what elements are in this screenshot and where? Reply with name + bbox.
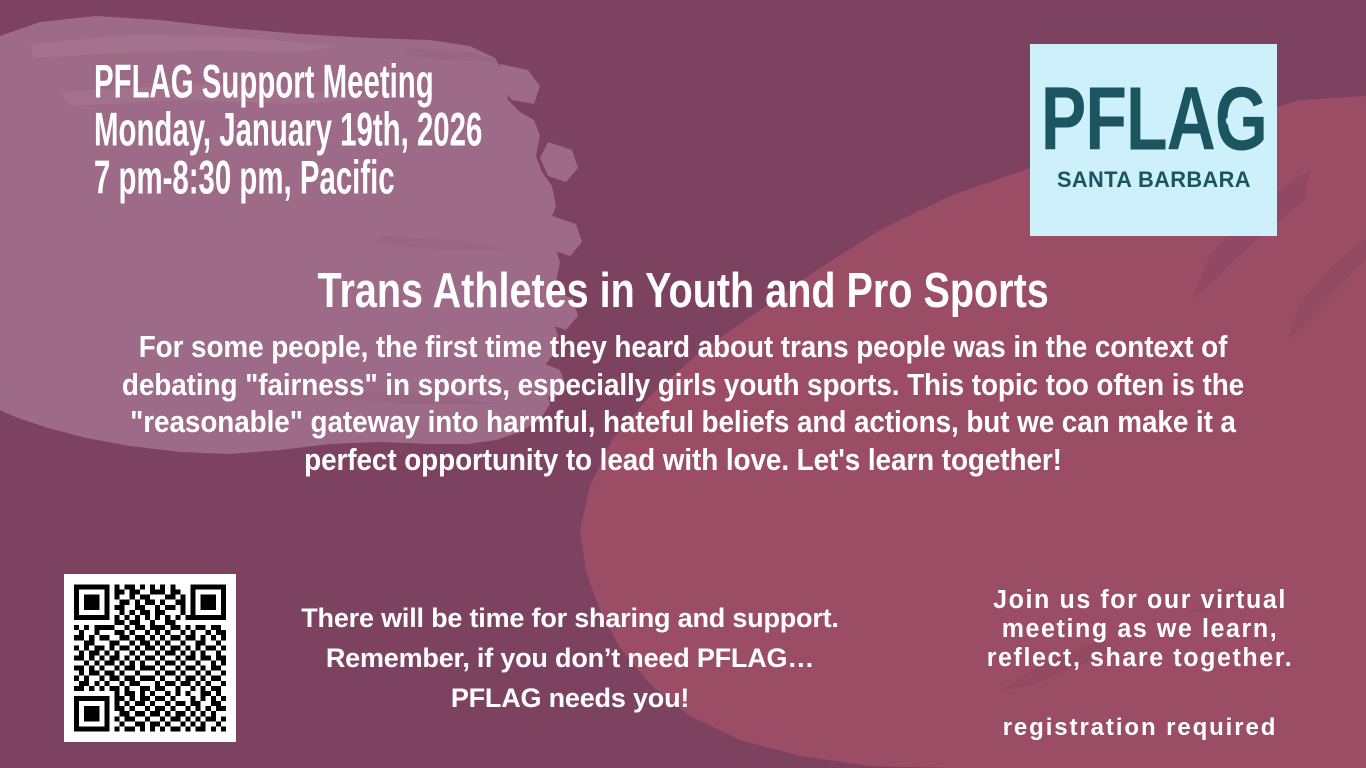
invitation-line-1: Join us for our virtual bbox=[930, 586, 1350, 616]
invitation-block: Join us for our virtual meeting as we le… bbox=[930, 586, 1350, 742]
support-note-line-1: There will be time for sharing and suppo… bbox=[255, 598, 885, 638]
support-note-line-3: PFLAG needs you! bbox=[255, 678, 885, 718]
support-note-line-2: Remember, if you don’t need PFLAG… bbox=[255, 638, 885, 678]
meeting-header-line-2: Monday, January 19th, 2026 bbox=[94, 103, 626, 157]
qr-code[interactable] bbox=[64, 574, 236, 742]
invitation-line-2: meeting as we learn, bbox=[930, 615, 1350, 645]
meeting-header: PFLAG Support Meeting Monday, January 19… bbox=[94, 55, 854, 199]
pflag-santa-barbara-logo: PFLAG SANTA BARBARA bbox=[1030, 44, 1277, 236]
support-note: There will be time for sharing and suppo… bbox=[255, 598, 885, 718]
pflag-wordmark: PFLAG bbox=[1040, 80, 1266, 158]
event-description-text: For some people, the first time they hea… bbox=[98, 328, 1268, 478]
event-title-text: Trans Athletes in Youth and Pro Sports bbox=[317, 264, 1048, 317]
meeting-header-line-3: 7 pm-8:30 pm, Pacific bbox=[94, 151, 626, 205]
pflag-chapter-name: SANTA BARBARA bbox=[1057, 167, 1251, 193]
qr-code-image[interactable] bbox=[74, 584, 226, 732]
pflag-wordmark-text: PFLAG bbox=[1040, 68, 1266, 169]
meeting-header-line-1: PFLAG Support Meeting bbox=[94, 55, 626, 109]
registration-required-note: registration required bbox=[930, 713, 1350, 743]
event-description: For some people, the first time they hea… bbox=[33, 328, 1333, 478]
event-title: Trans Athletes in Youth and Pro Sports bbox=[0, 265, 1366, 315]
invitation-line-3: reflect, share together. bbox=[930, 644, 1350, 674]
flyer-canvas: PFLAG Support Meeting Monday, January 19… bbox=[0, 0, 1366, 768]
